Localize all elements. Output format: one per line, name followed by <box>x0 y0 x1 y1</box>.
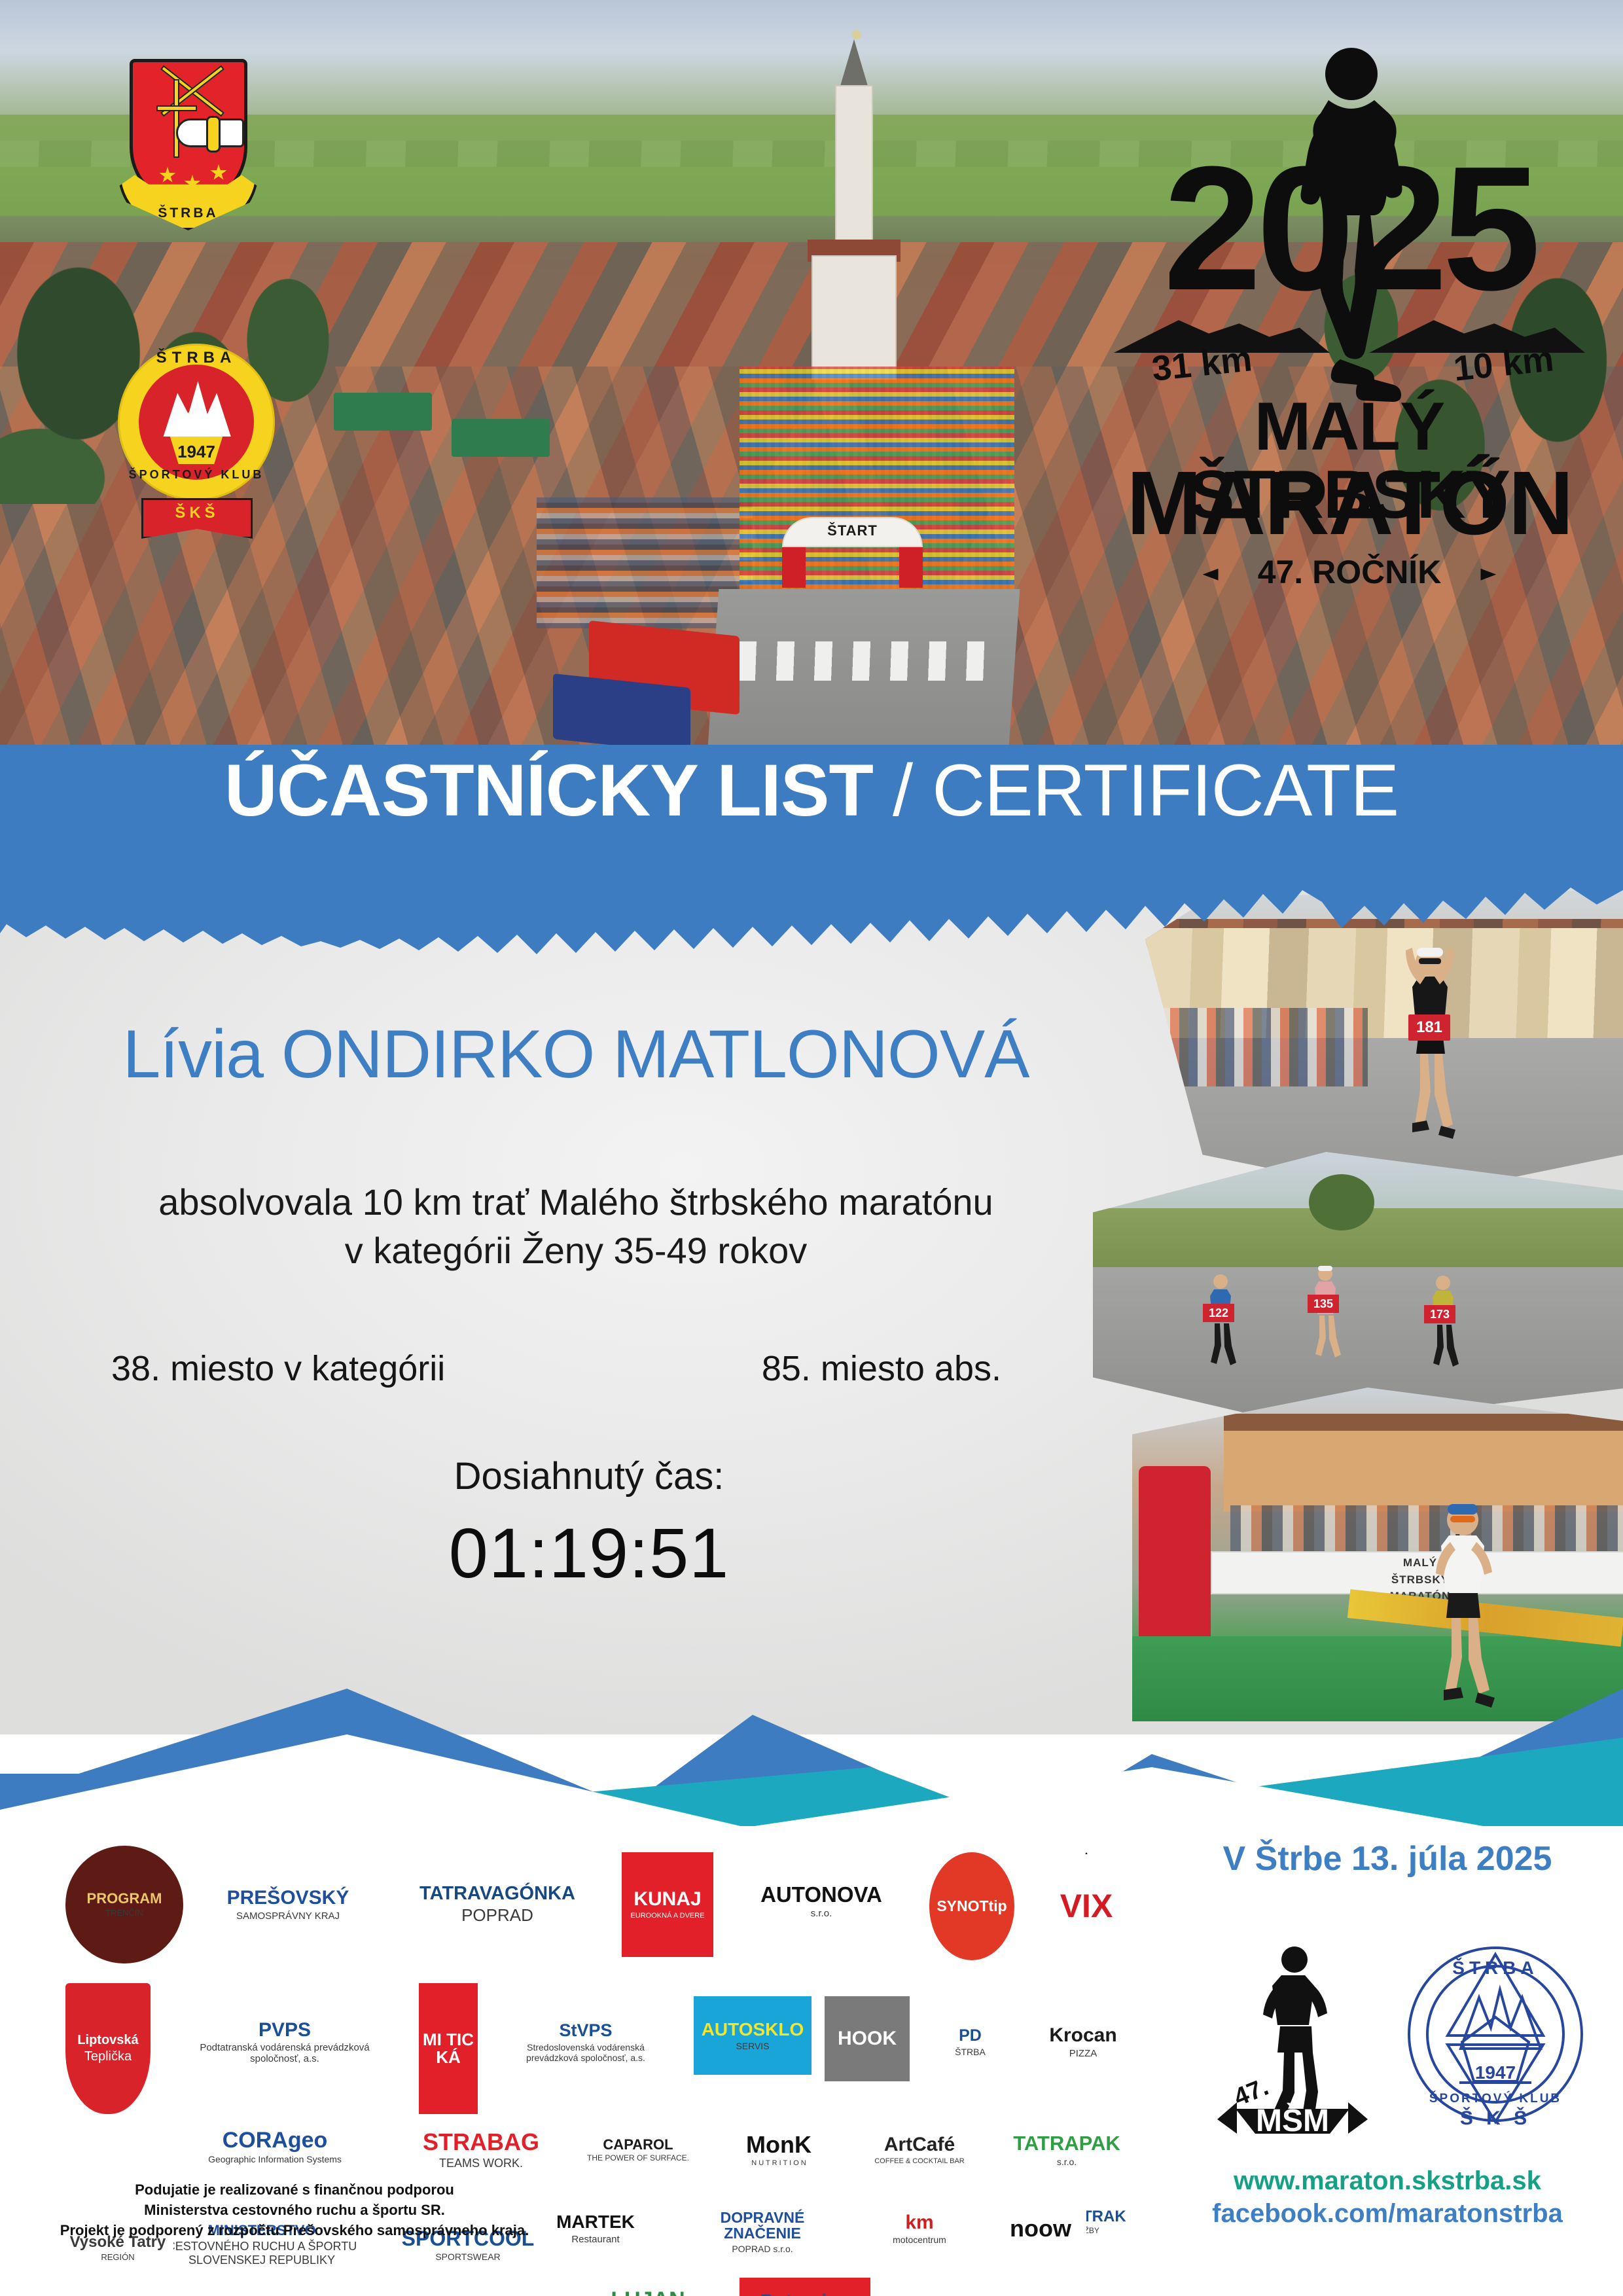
msm-abbr: MŠM <box>1256 2102 1329 2134</box>
stamp-year: 1947 <box>1475 2062 1516 2083</box>
tree-icon <box>1309 1174 1374 1230</box>
sponsor-logo-program-trencin: PROGRAMTRENČÍN <box>65 1846 183 1964</box>
sponsor-name: STRABAG <box>423 2130 539 2155</box>
sponsor-tagline: Stredoslovenská vodárenská prevádzková s… <box>501 2042 670 2063</box>
club-bottom-label: ŠPORTOVÝ KLUB <box>118 468 275 482</box>
sponsor-tagline: N U T R I T I O N <box>751 2159 806 2168</box>
club-abbr: ŠKŠ <box>143 504 251 522</box>
church-icon <box>811 39 897 380</box>
sponsor-logo-liptovska-teplicka: LiptovskáTeplička <box>65 1983 151 2114</box>
sponsor-tagline: TRENČÍN <box>105 1909 143 1918</box>
time-label: Dosiahnutý čas: <box>0 1454 1178 1498</box>
sponsor-logo-pvps: PVPSPodtatranská vodárenská prevádzková … <box>177 1993 393 2091</box>
sponsor-tagline: motocentrum <box>893 2234 946 2245</box>
group-bib-3: 173 <box>1424 1305 1455 1323</box>
runner-silhouette-icon <box>1289 36 1414 461</box>
photo-finish-line: MALÝ ŠTRBSKÝ MARATÓN <box>1132 1388 1623 1721</box>
event-date: V Štrbe 13. júla 2025 <box>1171 1839 1603 1878</box>
sponsor-name: MonK <box>746 2132 811 2157</box>
arrow-right-icon <box>1450 569 1496 581</box>
funding-disclaimer: Podujatie je realizované s finančnou pod… <box>59 2179 530 2241</box>
sponsor-tagline: SAMOSPRÁVNY KRAJ <box>236 1910 340 1922</box>
rankings-row: 38. miesto v kategórii 85. miesto abs. <box>65 1348 1113 1389</box>
sponsor-name: TATRAPAK <box>1013 2133 1120 2155</box>
sponsor-tagline: ŠTRBA <box>955 2047 986 2057</box>
sponsor-logo-hook: HOOK <box>825 1996 910 2081</box>
time-value: 01:19:51 <box>0 1512 1178 1594</box>
sponsor-name: MARTEK <box>556 2212 635 2231</box>
description-line-2: v kategórii Ženy 35-49 rokov <box>0 1227 1152 1275</box>
sponsor-logo-noow: noow <box>995 2196 1086 2261</box>
disclaimer-line-3: Projekt je podporený z rozpočtu Prešovsk… <box>59 2220 530 2240</box>
photo-group-runners: 122 135 173 <box>1093 1152 1623 1427</box>
sponsor-tagline: PIZZA <box>1069 2048 1097 2059</box>
achievement-description: absolvovala 10 km trať Malého štrbského … <box>0 1178 1152 1275</box>
sponsor-logo-vix: VIX <box>1034 1852 1139 1960</box>
sponsor-name: Liptovská <box>77 2034 138 2047</box>
sponsor-name: LUJAN <box>611 2289 685 2296</box>
sponsor-tagline: POPRAD s.r.o. <box>732 2244 793 2254</box>
participant-name: Lívia ONDIRKO MATLONOVÁ <box>0 1016 1152 1094</box>
sponsor-name: MI TIC KÁ <box>423 2031 474 2067</box>
group-bib-1: 122 <box>1203 1304 1234 1322</box>
sponsor-tagline: REGIÓN <box>101 2253 134 2263</box>
arrow-left-icon <box>1203 569 1249 581</box>
stamp-bottom: ŠPORTOVÝ KLUB <box>1429 2091 1561 2106</box>
sponsor-tagline: EUROOKNÁ A DVERE <box>630 1912 704 1920</box>
sks-club-logo: ŠTRBA 1947 ŠPORTOVÝ KLUB ŠKŠ <box>105 344 288 540</box>
rank-absolute: 85. miesto abs. <box>762 1348 1001 1389</box>
msm-logo: 47. MŠM <box>1211 1937 1374 2134</box>
sponsor-tagline: s.r.o. <box>811 1908 832 1919</box>
certificate-page: ŠTART ŠTRBA ŠTRBA 1947 ŠPORTOVÝ KLUB ŠKŠ… <box>0 0 1623 2296</box>
finish-banner-line-2: ŠTRBSKÝ <box>1212 1570 1623 1587</box>
sponsor-name: PROGRAM <box>87 1891 162 1906</box>
sponsor-logo-beh-sk: behskWeb, ktorý vás rozhýbe <box>419 2284 556 2296</box>
sponsor-tagline: POPRAD <box>461 1906 533 1926</box>
sponsor-tagline: CESTOVNÉHO RUCHU A ŠPORTU SLOVENSKEJ REP… <box>161 2240 363 2267</box>
star-icon-1 <box>159 167 176 184</box>
sponsor-name: KUNAJ <box>633 1889 701 1910</box>
sponsor-logo-martek: MARTEKRestaurant <box>537 2189 654 2268</box>
stamp-top: ŠTRBA <box>1452 1957 1538 1978</box>
sponsor-name: CORAgeo <box>223 2129 328 2153</box>
sponsor-logo-presovsky-kraj: PREŠOVSKÝSAMOSPRÁVNY KRAJ <box>203 1865 373 1944</box>
sponsor-logo-tatrapak: TATRAPAKs.r.o. <box>1001 2114 1132 2186</box>
sponsor-logo-tatravagonka: TATRAVAGÓNKAPOPRAD <box>406 1865 589 1944</box>
start-arch: ŠTART <box>782 517 923 588</box>
sponsor-logo-potraviny-serfel: PotravinyŠERFEL <box>740 2278 870 2296</box>
sponsor-logo-autosklo-servis: AUTOSKLOSERVIS <box>694 1996 811 2075</box>
sponsor-logo-artcafe: ArtCaféCOFFEE & COCKTAIL BAR <box>857 2111 982 2189</box>
event-title-line2: MARATÓN <box>1114 458 1585 548</box>
certificate-title-separator: / <box>873 749 932 831</box>
sponsor-tagline: COFFEE & COCKTAIL BAR <box>874 2157 965 2166</box>
sponsor-tagline: SERVIS <box>736 2041 769 2051</box>
stamp-abbr: Š K Š <box>1460 2107 1531 2129</box>
group-bib-2: 135 <box>1308 1295 1339 1313</box>
sponsor-name: Krocan <box>1049 2025 1116 2046</box>
sponsor-logo-km-motocentrum: kmmotocentrum <box>870 2193 969 2265</box>
star-icon-3 <box>210 164 227 181</box>
certificate-title-sk: ÚČASTNÍCKY LIST <box>224 749 873 831</box>
tent-green-icon <box>452 419 550 457</box>
disclaimer-line-1: Podujatie je realizované s finančnou pod… <box>59 2179 530 2200</box>
event-edition: 47. ROČNÍK <box>1258 554 1442 590</box>
sponsor-name: CAPAROL <box>603 2137 673 2152</box>
sponsor-name: Potraviny <box>760 2291 850 2296</box>
sponsor-tagline: THE POWER OF SURFACE. <box>587 2154 689 2163</box>
sponsor-logo-miticka: MI TIC KÁ <box>419 1983 478 2114</box>
club-abbr-banner: ŠKŠ <box>141 498 253 539</box>
marathon-logo-mark: 2025 31 km 10 km MALÝ ŠTRBSKÝ <box>1114 36 1585 605</box>
certificate-title: ÚČASTNÍCKY LIST / CERTIFICATE <box>0 754 1623 827</box>
sponsor-logo-strabag: STRABAGTEAMS WORK. <box>406 2114 556 2186</box>
crosswalk <box>740 641 988 681</box>
sponsor-tagline: Geographic Information Systems <box>208 2154 342 2164</box>
club-stamp: ŠTRBA 1947 ŠPORTOVÝ KLUB Š K Š <box>1400 1931 1590 2134</box>
description-line-1: absolvovala 10 km trať Malého štrbského … <box>0 1178 1152 1227</box>
sponsor-tagline: Podtatranská vodárenská prevádzková spol… <box>181 2042 389 2065</box>
event-edition-row: 47. ROČNÍK <box>1114 553 1585 591</box>
crest-town-name: ŠTRBA <box>118 206 259 221</box>
sponsor-name: PREŠOVSKÝ <box>227 1888 349 1909</box>
finisher-bib-number: 181 <box>1408 1014 1450 1041</box>
sponsor-tagline: TEAMS WORK. <box>439 2157 523 2170</box>
sponsor-logo-synottip: SYNOTtip <box>929 1852 1014 1960</box>
disclaimer-line-2: Ministerstva cestovného ruchu a športu S… <box>59 2200 530 2220</box>
torn-paper-edge <box>0 870 1623 956</box>
sponsor-logo-kunaj: KUNAJEUROOKNÁ A DVERE <box>622 1852 713 1957</box>
start-arch-label: ŠTART <box>782 522 923 539</box>
sponsor-name: PVPS <box>259 2020 311 2041</box>
sponsor-tagline: s.r.o. <box>1057 2157 1077 2167</box>
sponsor-logo-grid: PROGRAMTRENČÍNPREŠOVSKÝSAMOSPRÁVNY KRAJT… <box>39 1833 1152 2212</box>
sponsor-name: TATRAVAGÓNKA <box>419 1884 575 1903</box>
facebook-url[interactable]: facebook.com/maratonstrba <box>1171 2199 1603 2229</box>
sponsor-name: SYNOTtip <box>936 1898 1007 1914</box>
sponsor-name: StVPS <box>559 2021 612 2039</box>
sponsor-name: VIX <box>1060 1889 1113 1924</box>
sponsor-name: km <box>905 2212 933 2233</box>
sponsor-name: ArtCafé <box>884 2134 955 2155</box>
sponsor-logo-dopravne-znacenie: DOPRAVNÉ ZNAČENIEPOPRAD s.r.o. <box>681 2199 844 2265</box>
sponsor-logo-krocan-pizza: KrocanPIZZA <box>1031 1993 1135 2091</box>
club-top-label: ŠTRBA <box>118 349 275 367</box>
sponsor-tagline: Restaurant <box>571 2234 619 2245</box>
sponsor-logo-stvps: StVPSStredoslovenská vodárenská prevádzk… <box>497 1990 674 2094</box>
sponsor-name: PD <box>959 2027 982 2044</box>
sponsor-logo-caparol: CAPAROLTHE POWER OF SURFACE. <box>576 2108 700 2193</box>
tent-green-icon-2 <box>334 393 432 431</box>
sponsor-logo-corageo: CORAgeoGeographic Information Systems <box>177 2108 373 2186</box>
sponsor-tagline: SPORTSWEAR <box>435 2251 500 2262</box>
finish-banner-line-1: MALÝ <box>1212 1552 1623 1570</box>
sponsor-name: HOOK <box>838 2028 897 2049</box>
club-year: 1947 <box>139 442 254 462</box>
sponsor-logo-monk-nutrition: MonKN U T R I T I O N <box>720 2114 838 2186</box>
sponsor-name: AUTONOVA <box>760 1884 882 1907</box>
finish-banner: MALÝ ŠTRBSKÝ MARATÓN <box>1211 1551 1623 1594</box>
sponsor-logo-lujan-plus: LUJANPlus s.r.o. <box>589 2274 707 2296</box>
sponsor-tagline: Teplička <box>84 2049 132 2064</box>
sponsor-logo-autonova: AUTONOVAs.r.o. <box>740 1859 903 1944</box>
photo-collage: 181 122 135 173 MALÝ ŠTRBS <box>1086 890 1623 1721</box>
website-url[interactable]: www.maraton.skstrba.sk <box>1171 2166 1603 2196</box>
sponsor-logo-pretekaj-sk: pretekaj.sk <box>249 2284 393 2296</box>
finisher-runner-icon <box>1381 936 1479 1152</box>
sponsor-logo-pd-strba: PDŠTRBA <box>926 1993 1014 2091</box>
sponsor-name: noow <box>1010 2216 1071 2241</box>
sponsor-name: AUTOSKLO <box>702 2020 804 2039</box>
strba-town-crest: ŠTRBA <box>118 59 259 255</box>
sponsor-name: DOPRAVNÉ ZNAČENIE <box>685 2210 840 2241</box>
rank-category: 38. miesto v kategórii <box>111 1348 445 1389</box>
certificate-title-en: CERTIFICATE <box>932 749 1399 831</box>
